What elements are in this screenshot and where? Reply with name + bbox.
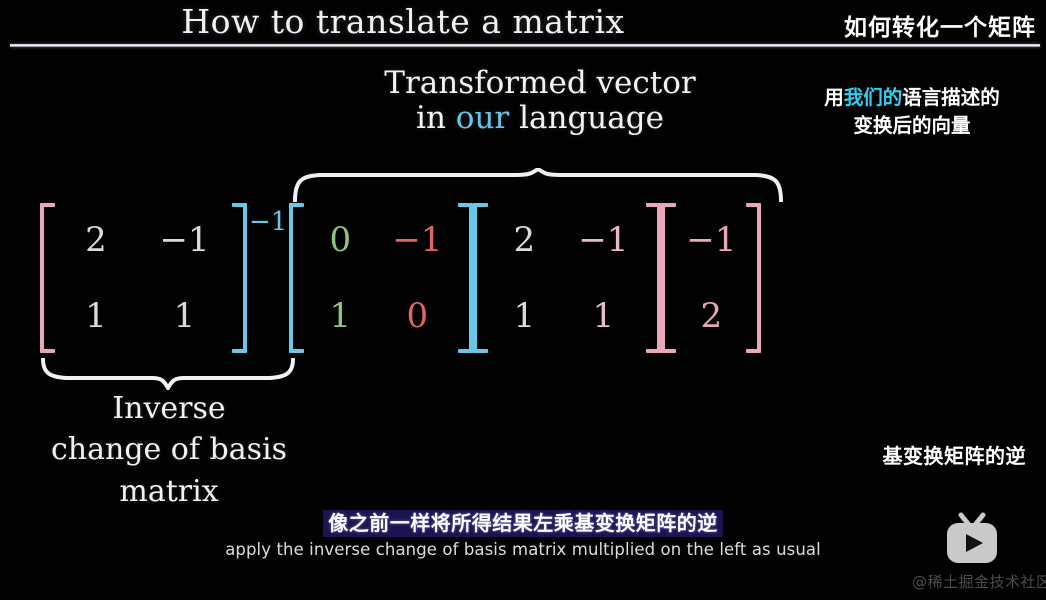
matrix-1-superscript: −1 bbox=[247, 209, 289, 235]
subtitle-en: apply the inverse change of basis matrix… bbox=[0, 540, 1046, 559]
brace-top-icon bbox=[292, 168, 784, 202]
tv-play-icon bbox=[939, 511, 1005, 569]
matrix-3-left-bracket bbox=[473, 203, 488, 353]
matrix-inverse-change-of-basis: 2 1 −1 1 −1 bbox=[40, 203, 289, 353]
matrix-2-col-2: −1 0 bbox=[376, 215, 458, 341]
matrix-2-cell-r2c2: 0 bbox=[376, 291, 458, 341]
transformed-vector-label: Transformed vector in our language bbox=[330, 66, 750, 135]
matrix-2-cell-r1c2: −1 bbox=[376, 215, 458, 265]
subtitle-zh-text: 像之前一样将所得结果左乘基变换矩阵的逆 bbox=[323, 510, 723, 537]
matrix-transformation: 0 1 −1 0 bbox=[289, 203, 473, 353]
vector-cell-r1: −1 bbox=[676, 215, 746, 265]
transformed-vector-line1: Transformed vector bbox=[330, 66, 750, 101]
matrix-2-cells: 0 1 −1 0 bbox=[304, 203, 458, 353]
transformed-vector-line2: in our language bbox=[330, 101, 750, 136]
page-title: How to translate a matrix bbox=[0, 2, 806, 41]
matrix-2-cell-r1c1: 0 bbox=[304, 215, 376, 265]
slide-canvas: How to translate a matrix 如何转化一个矩阵 Trans… bbox=[0, 0, 1046, 600]
line2-accent: our bbox=[456, 100, 509, 136]
watermark-text: @稀土掘金技术社区 bbox=[912, 571, 1032, 592]
matrix-3-cells: 2 1 −1 1 bbox=[488, 203, 646, 353]
annotation-our-language-zh: 用我们的语言描述的 变换后的向量 bbox=[792, 84, 1032, 139]
inverse-label-line3: matrix bbox=[0, 471, 338, 512]
page-title-zh: 如何转化一个矩阵 bbox=[844, 8, 1036, 42]
vector-col-1: −1 2 bbox=[676, 215, 746, 341]
matrix-1-right-bracket bbox=[232, 203, 247, 353]
line2-post: language bbox=[509, 100, 664, 136]
matrix-2-left-bracket bbox=[289, 203, 304, 353]
inverse-label-line2: change of basis bbox=[0, 429, 338, 470]
watermark: @稀土掘金技术社区 bbox=[912, 511, 1032, 592]
matrix-3-right-bracket bbox=[646, 203, 661, 353]
inverse-label-line1: Inverse bbox=[0, 388, 338, 429]
line2-pre: in bbox=[416, 100, 456, 136]
vector-left-bracket bbox=[661, 203, 676, 353]
matrix-3-col-1: 2 1 bbox=[488, 215, 560, 341]
subtitle-zh: 像之前一样将所得结果左乘基变换矩阵的逆 bbox=[0, 507, 1046, 536]
zh-top-accent: 我们的 bbox=[844, 86, 903, 109]
matrix-change-of-basis: 2 1 −1 1 bbox=[473, 203, 661, 353]
matrix-1-cell-r1c2: −1 bbox=[137, 215, 232, 265]
matrix-1-cell-r1c1: 2 bbox=[55, 215, 137, 265]
zh-top-line2: 变换后的向量 bbox=[792, 112, 1032, 140]
matrix-1-col-1: 2 1 bbox=[55, 215, 137, 341]
matrix-expression: 2 1 −1 1 −1 0 1 −1 0 bbox=[40, 198, 761, 358]
matrix-3-cell-r2c1: 1 bbox=[488, 291, 560, 341]
vector-right-bracket bbox=[746, 203, 761, 353]
matrix-3-col-2: −1 1 bbox=[560, 215, 646, 341]
annotation-inverse-basis-zh: 基变换矩阵的逆 bbox=[883, 440, 1027, 469]
zh-top-post: 语言描述的 bbox=[902, 86, 1000, 109]
matrix-3-cell-r1c2: −1 bbox=[560, 215, 646, 265]
matrix-2-cell-r2c1: 1 bbox=[304, 291, 376, 341]
title-divider bbox=[10, 44, 1040, 47]
inverse-change-of-basis-label: Inverse change of basis matrix bbox=[0, 388, 338, 512]
matrix-1-cells: 2 1 −1 1 bbox=[55, 203, 232, 353]
vector-cells: −1 2 bbox=[676, 203, 746, 353]
zh-top-pre: 用 bbox=[824, 86, 844, 109]
matrix-1-left-bracket bbox=[40, 203, 55, 353]
matrix-1-cell-r2c2: 1 bbox=[137, 291, 232, 341]
vector-cell-r2: 2 bbox=[676, 291, 746, 341]
brace-bottom-icon bbox=[40, 358, 296, 390]
matrix-3-cell-r1c1: 2 bbox=[488, 215, 560, 265]
matrix-3-cell-r2c2: 1 bbox=[560, 291, 646, 341]
matrix-2-col-1: 0 1 bbox=[304, 215, 376, 341]
matrix-1-cell-r2c1: 1 bbox=[55, 291, 137, 341]
matrix-2-right-bracket bbox=[458, 203, 473, 353]
matrix-1-col-2: −1 1 bbox=[137, 215, 232, 341]
matrix-input-vector: −1 2 bbox=[661, 203, 761, 353]
